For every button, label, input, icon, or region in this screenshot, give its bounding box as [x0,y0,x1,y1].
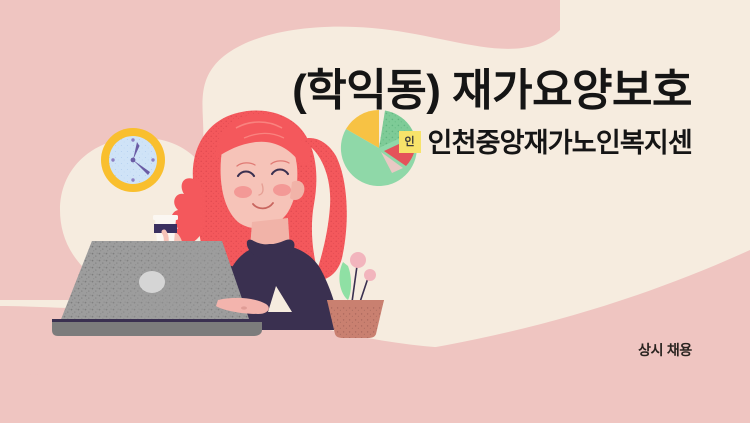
status-badge: 상시 채용 [0,340,692,360]
organization-badge-icon: 인 [399,131,421,153]
organization-row: 인인천중앙재가노인복지센 [0,130,692,157]
clock-mark-9 [111,158,114,161]
page-title: (학익동) 재가요양보호 [0,68,692,114]
blush-right [273,184,291,196]
cup-lid [153,215,178,220]
hand-knuckle [241,306,247,309]
clock-center-pin [131,158,136,163]
flower-head-2 [364,269,376,281]
clock-mark-6 [131,178,134,181]
job-posting-banner: (학익동) 재가요양보호 인인천중앙재가노인복지센 상시 채용 [0,0,750,423]
laptop-base [52,320,262,336]
laptop-hinge [52,319,264,322]
blush-left [234,186,252,198]
clock-mark-3 [151,158,154,161]
laptop-logo [139,271,165,293]
organization-name: 인천중앙재가노인복지센 [428,130,692,157]
pot-rim [327,300,384,307]
flower-head-1 [350,252,366,268]
